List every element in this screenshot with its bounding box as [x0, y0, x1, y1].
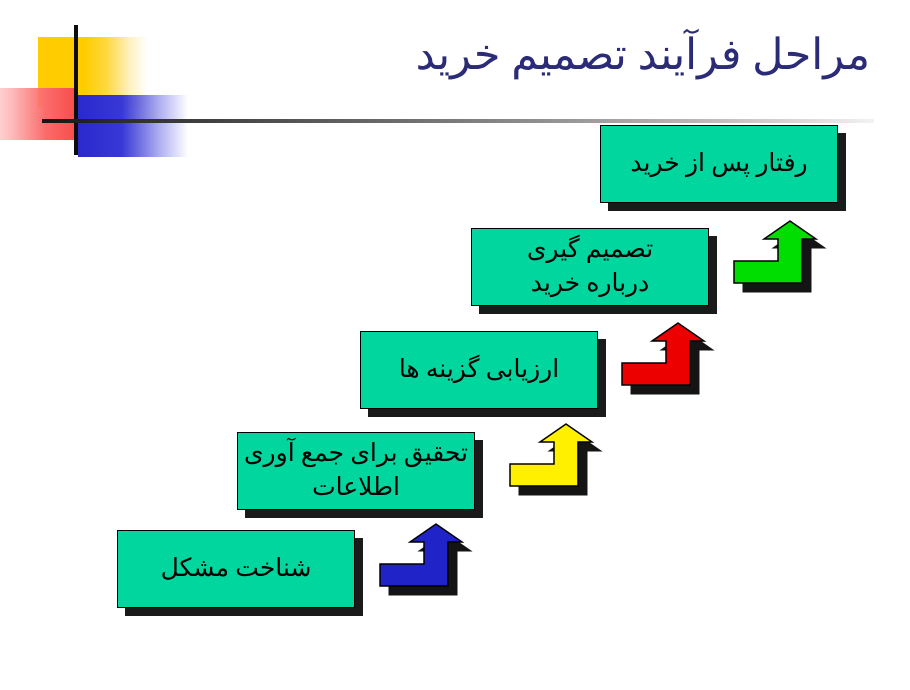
decoration-blue-block: [78, 95, 188, 157]
process-box-label: تحقیق برای جمع آوری اطلاعات: [244, 437, 468, 505]
slide-title: مراحل فرآیند تصمیم خرید: [170, 22, 870, 94]
process-box-label: تصمیم گیری درباره خرید: [527, 233, 653, 301]
bent-arrow-up-yellow: [506, 424, 602, 506]
slide-canvas: مراحل فرآیند تصمیم خرید رفتار پس از خرید…: [0, 0, 910, 690]
process-box-label: ارزیابی گزینه ها: [399, 353, 559, 387]
process-box-evaluate-alternatives[interactable]: ارزیابی گزینه ها: [360, 331, 598, 409]
bent-arrow-up-red: [618, 323, 714, 405]
process-box-label: رفتار پس از خرید: [630, 147, 807, 181]
box-face: تحقیق برای جمع آوری اطلاعات: [237, 432, 475, 510]
decoration-vertical-line: [74, 25, 78, 155]
process-box-label-line-1: تحقیق برای جمع آوری: [244, 437, 468, 471]
bent-arrow-up-green: [730, 221, 826, 303]
process-box-post-purchase[interactable]: رفتار پس از خرید: [600, 125, 838, 203]
process-box-label-line-1: تصمیم گیری: [527, 233, 653, 267]
box-face: رفتار پس از خرید: [600, 125, 838, 203]
box-face: شناخت مشکل: [117, 530, 355, 608]
decoration-yellow-block: [38, 37, 148, 107]
process-box-label-line-2: اطلاعات: [244, 471, 468, 505]
box-face: تصمیم گیری درباره خرید: [471, 228, 709, 306]
box-face: ارزیابی گزینه ها: [360, 331, 598, 409]
process-box-information-search[interactable]: تحقیق برای جمع آوری اطلاعات: [237, 432, 475, 510]
process-box-problem-recognition[interactable]: شناخت مشکل: [117, 530, 355, 608]
title-underline-rule: [42, 119, 874, 123]
decoration-red-block: [0, 88, 77, 140]
process-box-label-line-2: درباره خرید: [527, 267, 653, 301]
process-box-purchase-decision[interactable]: تصمیم گیری درباره خرید: [471, 228, 709, 306]
bent-arrow-up-blue: [376, 524, 472, 606]
process-box-label: شناخت مشکل: [161, 552, 312, 586]
